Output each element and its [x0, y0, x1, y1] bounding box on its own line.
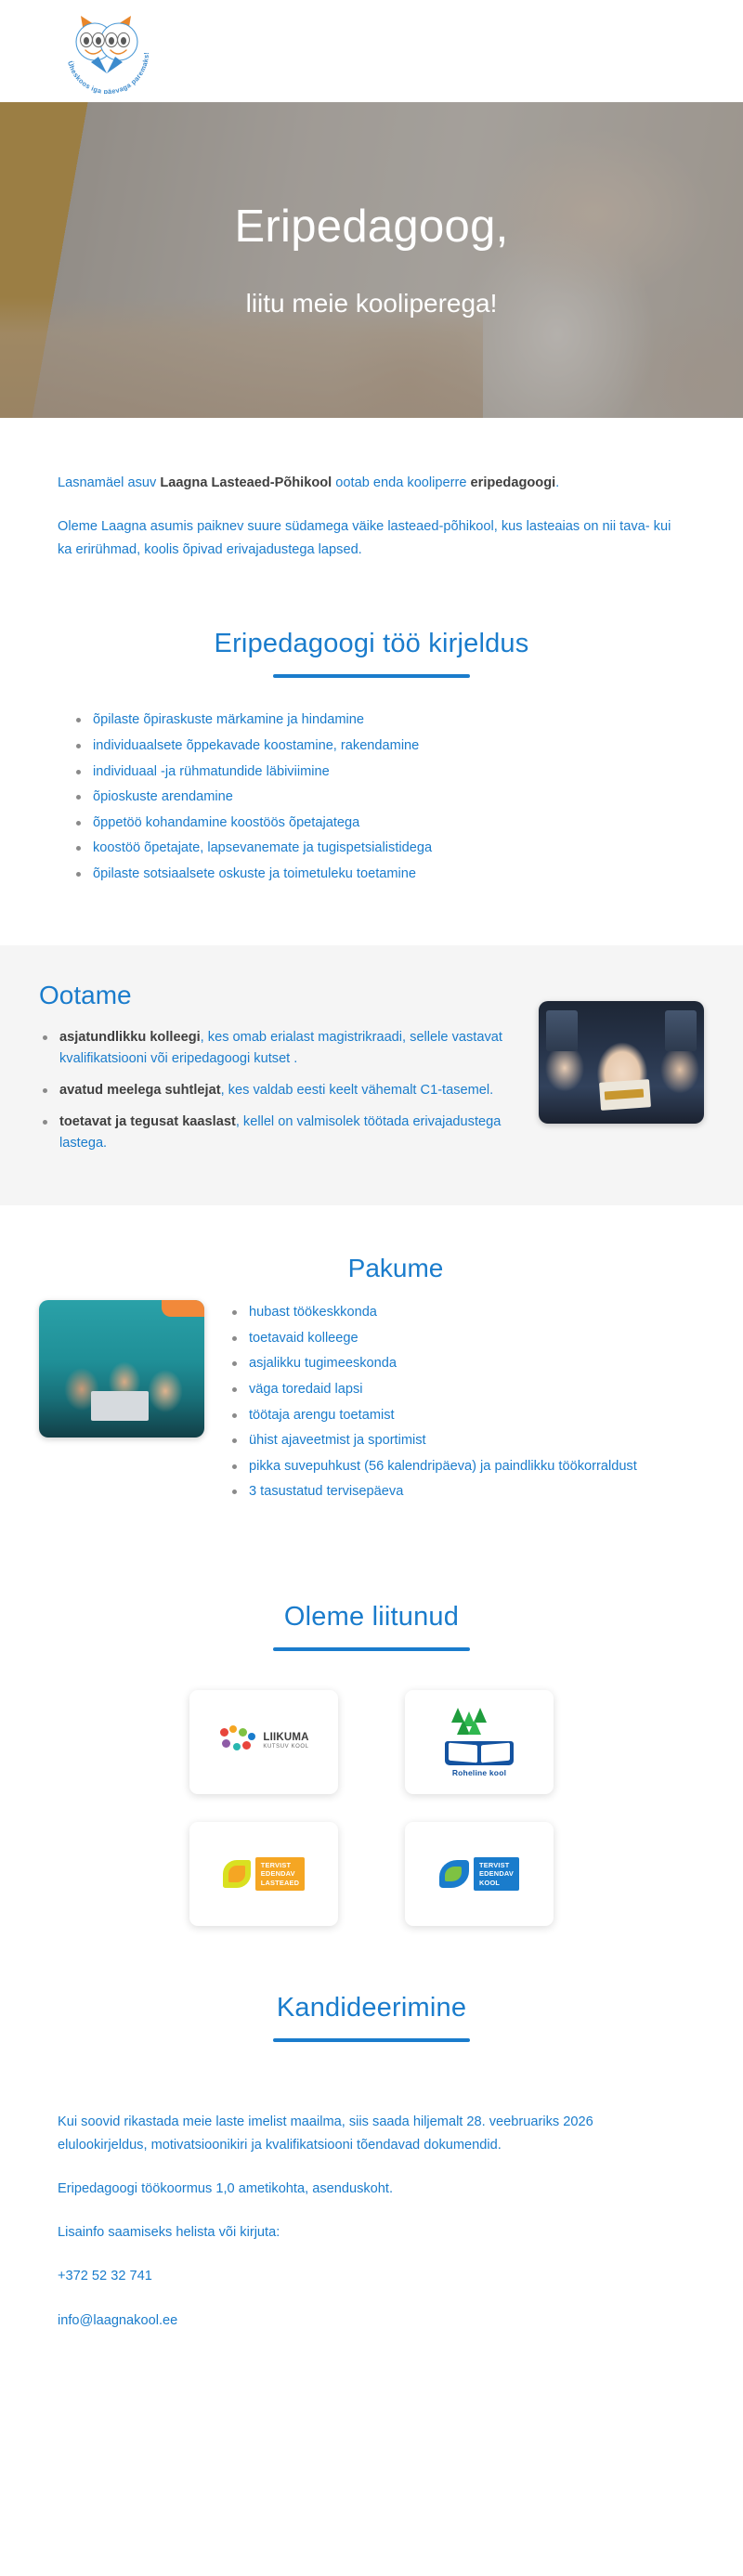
item-bold: avatud meelega suhtlejat	[59, 1083, 221, 1098]
lasnamae-link[interactable]: Lasnamäel asuv	[58, 475, 156, 490]
partners-heading-block: Oleme liitunud	[58, 1535, 685, 1651]
offer-section: Pakume hubast töökeskkonda toetavaid kol…	[0, 1205, 743, 1507]
partner-label-line2: KUTSUV KOOL	[263, 1743, 308, 1752]
partner-card-tervist-edendav-lasteaed[interactable]: TERVIST EDENDAV LASTEAED	[189, 1822, 338, 1926]
logo-tagline-text: Üheskoos iga päevaga paremaks!	[66, 52, 150, 94]
list-item: toetavaid kolleege	[228, 1328, 704, 1350]
offer-text: hubast töökeskkonda toetavaid kolleege a…	[228, 1300, 704, 1507]
colored-dots-icon	[218, 1725, 257, 1759]
intro-period: .	[555, 475, 559, 490]
trees-icon	[437, 1708, 522, 1739]
orange-corner-accent	[162, 1300, 204, 1317]
partner-card-tervist-edendav-kool[interactable]: TERVIST EDENDAV KOOL	[405, 1822, 554, 1926]
list-item: õppetöö kohandamine koostöös õpetajatega	[72, 813, 743, 835]
offer-photo-wrap	[39, 1300, 204, 1438]
partner-logo-grid: LIIKUMA KUTSUV KOOL Roheline	[58, 1651, 685, 1926]
hero-subtitle: liitu meie kooliperega!	[246, 290, 498, 319]
item-rest: , kes valdab eesti keelt vähemalt C1-tas…	[221, 1083, 494, 1098]
school-name-bold: Laagna Lasteaed-Põhikool	[160, 475, 332, 490]
job-heading-block: Eripedagoogi töö kirjeldus	[0, 562, 743, 678]
partner-label-line1: LIIKUMA	[263, 1733, 308, 1744]
list-item: õpilaste sotsiaalsete oskuste ja toimetu…	[72, 864, 743, 886]
apply-heading: Kandideerimine	[0, 1993, 743, 2023]
list-item: toetavat ja tegusat kaaslast, kellel on …	[39, 1112, 520, 1155]
apply-paragraph-2: Eripedagoogi töökoormus 1,0 ametikohta, …	[58, 2178, 685, 2201]
hero-banner: Eripedagoog, liitu meie kooliperega!	[0, 102, 743, 418]
partners-heading: Oleme liitunud	[58, 1602, 685, 1633]
job-ad-page: Üheskoos iga päevaga paremaks! Eripedago…	[0, 0, 743, 2398]
expectations-photo-wrap	[539, 979, 704, 1164]
apply-section: Kandideerimine Kui soovid rikastada meie…	[0, 1926, 743, 2398]
partner-label-line1: Roheline kool	[437, 1768, 522, 1777]
expectations-text: Ootame asjatundlikku kolleegi, kes omab …	[39, 979, 520, 1164]
item-bold: asjatundlikku kolleegi	[59, 1030, 201, 1045]
partners-section: Oleme liitunud LIIKUMA	[0, 1507, 743, 1926]
owl-faces-logo-icon: Üheskoos iga päevaga paremaks!	[58, 8, 158, 94]
intro-paragraph-1: Lasnamäel asuv Laagna Lasteaed-Põhikool …	[58, 472, 685, 495]
open-book-icon	[445, 1741, 514, 1765]
list-item: töötaja arengu toetamist	[228, 1405, 704, 1427]
bus-window-left	[546, 1010, 578, 1051]
bus-window-right	[665, 1010, 697, 1051]
contact-email[interactable]: info@laagnakool.ee	[58, 2309, 685, 2333]
offer-heading: Pakume	[39, 1254, 704, 1283]
list-item: õpilaste õpiraskuste märkamine ja hindam…	[72, 709, 743, 732]
list-item: hubast töökeskkonda	[228, 1302, 704, 1324]
role-name-bold: eripedagoogi	[471, 475, 556, 490]
job-duties-list: õpilaste õpiraskuste märkamine ja hindam…	[0, 678, 743, 885]
svg-text:Üheskoos iga päevaga paremaks!: Üheskoos iga päevaga paremaks!	[66, 52, 150, 94]
list-item: pikka suvepuhkust (56 kalendripäeva) ja …	[228, 1456, 704, 1478]
logo-bar: Üheskoos iga päevaga paremaks!	[0, 0, 743, 102]
list-item: 3 tasustatud tervisepäeva	[228, 1481, 704, 1503]
list-item: individuaalsete õppekavade koostamine, r…	[72, 735, 743, 758]
hero-title: Eripedagoog,	[234, 202, 508, 253]
apply-paragraph-1: Kui soovid rikastada meie laste imelist …	[58, 2111, 685, 2157]
expectations-section: Ootame asjatundlikku kolleegi, kes omab …	[0, 945, 743, 1205]
team-laptop-photo	[39, 1300, 204, 1438]
leaf-icon	[223, 1860, 251, 1888]
list-item: ühist ajaveetmist ja sportimist	[228, 1430, 704, 1452]
leaf-icon	[439, 1860, 469, 1888]
expectations-list: asjatundlikku kolleegi, kes omab erialas…	[39, 1027, 520, 1155]
list-item: koostöö õpetajate, lapsevanemate ja tugi…	[72, 838, 743, 860]
list-item: väga toredaid lapsi	[228, 1379, 704, 1401]
intro-section: Lasnamäel asuv Laagna Lasteaed-Põhikool …	[0, 418, 743, 562]
expectations-heading: Ootame	[39, 981, 520, 1010]
partner-card-liikuma-kutsuv-kool[interactable]: LIIKUMA KUTSUV KOOL	[189, 1690, 338, 1794]
list-item: asjatundlikku kolleegi, kes omab erialas…	[39, 1027, 520, 1071]
partner-label-line3: KOOL	[479, 1879, 514, 1887]
partner-label-line2: EDENDAV	[261, 1869, 299, 1878]
hero-text-block: Eripedagoog, liitu meie kooliperega!	[0, 102, 743, 418]
list-item: õpioskuste arendamine	[72, 787, 743, 809]
school-logo[interactable]: Üheskoos iga päevaga paremaks!	[58, 8, 158, 94]
bus-children-photo	[539, 1001, 704, 1124]
partner-label-line1: TERVIST	[261, 1861, 299, 1869]
partner-label-line1: TERVIST	[479, 1861, 514, 1869]
intro-paragraph-2: Oleme Laagna asumis paiknev suure südame…	[58, 515, 685, 562]
list-item: asjalikku tugimeeskonda	[228, 1353, 704, 1375]
job-heading: Eripedagoogi töö kirjeldus	[0, 629, 743, 659]
partner-card-roheline-kool[interactable]: Roheline kool	[405, 1690, 554, 1794]
item-bold: toetavat ja tegusat kaaslast	[59, 1114, 236, 1129]
bus-held-card	[599, 1079, 651, 1111]
list-item: individuaal -ja rühmatundide läbiviimine	[72, 761, 743, 784]
apply-paragraph-3: Lisainfo saamiseks helista või kirjuta:	[58, 2221, 685, 2244]
apply-heading-block: Kandideerimine	[0, 1926, 743, 2042]
contact-phone[interactable]: +372 52 32 741	[58, 2265, 685, 2288]
partner-label-line3: LASTEAED	[261, 1879, 299, 1887]
laptop-shape	[91, 1391, 149, 1421]
partner-label-line2: EDENDAV	[479, 1869, 514, 1878]
list-item: avatud meelega suhtlejat, kes valdab ees…	[39, 1080, 520, 1102]
offer-list: hubast töökeskkonda toetavaid kolleege a…	[228, 1302, 704, 1503]
intro-mid-text: ootab enda kooliperre	[332, 475, 470, 490]
